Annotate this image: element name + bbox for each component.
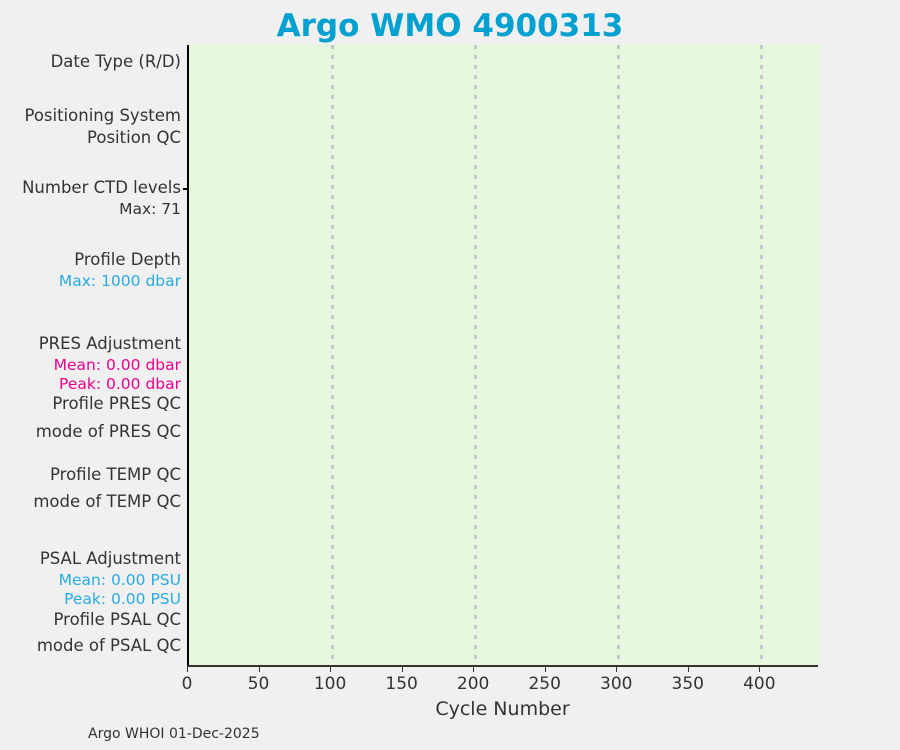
- x-tick-label: 100: [300, 674, 360, 694]
- x-tick-label: 350: [658, 674, 718, 694]
- gridline: [760, 45, 763, 665]
- timeline-plot-area: [187, 45, 820, 665]
- row-label-ctd-levels: Number CTD levels: [0, 178, 181, 197]
- ctd-axis-tick: [183, 188, 189, 190]
- x-tick: [259, 665, 260, 672]
- row-label-mode-pres-qc: mode of PRES QC: [0, 422, 181, 441]
- x-axis-label: Cycle Number: [187, 698, 818, 720]
- x-tick-label: 150: [372, 674, 432, 694]
- row-label-ctd-levels-max: Max: 71: [0, 200, 181, 219]
- row-label-positioning-system: Positioning System: [0, 106, 181, 125]
- x-tick-label: 400: [729, 674, 789, 694]
- x-tick: [616, 665, 617, 672]
- x-tick: [759, 665, 760, 672]
- row-label-mode-temp-qc: mode of TEMP QC: [0, 492, 181, 511]
- row-label-profile-psal-qc: Profile PSAL QC: [0, 610, 181, 629]
- x-tick-label: 250: [515, 674, 575, 694]
- row-label-profile-depth-max: Max: 1000 dbar: [0, 272, 181, 291]
- x-tick-label: 50: [229, 674, 289, 694]
- x-tick: [187, 665, 188, 672]
- row-label-psal-adjustment: PSAL Adjustment: [0, 549, 181, 568]
- x-tick: [402, 665, 403, 672]
- row-label-psal-peak: Peak: 0.00 PSU: [0, 590, 181, 609]
- x-tick: [330, 665, 331, 672]
- x-tick-label: 0: [157, 674, 217, 694]
- x-tick: [473, 665, 474, 672]
- row-label-psal-mean: Mean: 0.00 PSU: [0, 571, 181, 590]
- row-label-pres-peak: Peak: 0.00 dbar: [0, 375, 181, 394]
- row-label-date-type: Date Type (R/D): [0, 52, 181, 71]
- row-label-pres-adjustment: PRES Adjustment: [0, 334, 181, 353]
- gridline: [474, 45, 477, 665]
- page-title: Argo WMO 4900313: [0, 8, 900, 44]
- x-tick: [688, 665, 689, 672]
- footer-text: Argo WHOI 01-Dec-2025: [88, 726, 260, 742]
- x-tick: [545, 665, 546, 672]
- x-tick-label: 300: [586, 674, 646, 694]
- row-label-profile-depth: Profile Depth: [0, 250, 181, 269]
- gridline: [617, 45, 620, 665]
- row-label-pres-mean: Mean: 0.00 dbar: [0, 356, 181, 375]
- row-label-profile-pres-qc: Profile PRES QC: [0, 394, 181, 413]
- row-label-mode-psal-qc: mode of PSAL QC: [0, 636, 181, 655]
- x-axis-line: [187, 665, 818, 667]
- gridline: [331, 45, 334, 665]
- x-tick-label: 200: [443, 674, 503, 694]
- row-label-profile-temp-qc: Profile TEMP QC: [0, 465, 181, 484]
- row-label-position-qc: Position QC: [0, 128, 181, 147]
